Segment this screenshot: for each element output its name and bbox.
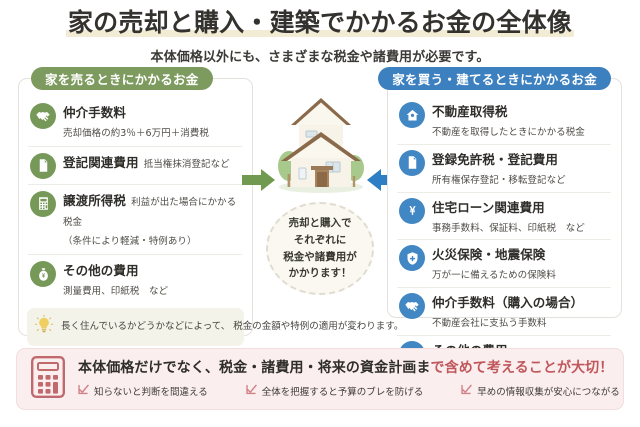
document-icon [399,150,425,176]
house-icon [399,102,425,128]
list-item-text: 火災保険・地震保険 万が一に備えるための保険料 [432,244,609,283]
list-item-desc: 売却価格の約3％＋6万円＋消費税 [63,128,209,139]
summary-banner-title-plain: 本体価格だけでなく、税金・諸費用・将来の資金計画ま [78,360,431,376]
check-item: 知らないと判断を間違える [78,384,208,398]
buy-panel: 家を買う・建てるときにかかるお金 不動産取得税 不動産を取得したときにかかる税金 [387,78,622,318]
lightbulb-icon [33,314,55,340]
list-item: 火災保険・地震保険 万が一に備えるための保険料 [397,239,611,287]
check-icon [246,384,257,398]
calculator-icon [31,356,65,402]
list-item-desc: 測量費用、印紙税 など [63,286,168,297]
list-item-text: 仲介手数料 売却価格の約3％＋6万円＋消費税 [63,102,240,141]
list-item-title: 住宅ローン関連費用 [432,200,545,215]
sell-panel-heading: 家を売るときにかかるお金 [31,67,213,90]
summary-banner-checks: 知らないと判断を間違える 全体を把握すると予算のブレを防げる [78,384,620,398]
check-item: 全体を把握すると予算のブレを防げる [246,384,424,398]
header: 家の売却と購入・建築でかかるお金の全体像 本体価格以外にも、さまざまな税金や諸費… [0,0,640,65]
summary-banner-title-accent: で含めて考えることが大切！ [431,360,614,376]
list-item: 住宅ローン関連費用 事務手数料、保証料、印紙税 など [397,192,611,240]
list-item-text: 登記関連費用 抵当権抹消登記など [63,152,240,172]
list-item-text: 仲介手数料（購入の場合） 不動産会社に支払う手数料 [432,292,609,331]
list-item-desc: 所有権保存登記・移転登記など [432,175,566,186]
list-item-text: 登録免許税・登記費用 所有権保存登記・移転登記など [432,149,609,188]
list-item-text: 譲渡所得税 利益が出た場合にかかる税金 （条件により軽減・特例あり） [63,190,240,249]
list-item-text: 不動産取得税 不動産を取得したときにかかる税金 [432,101,609,140]
list-item-desc: 抵当権抹消登記など [144,159,230,170]
check-item-label: 早めの情報収集が安心につながる [477,384,620,398]
summary-banner-title: 本体価格だけでなく、税金・諸費用・将来の資金計画まで含めて考えることが大切！ [78,360,620,377]
document-icon [30,153,56,179]
summary-banner: 本体価格だけでなく、税金・諸費用・将来の資金計画まで含めて考えることが大切！ 知… [16,348,624,410]
list-item-desc: 不動産を取得したときにかかる税金 [432,127,585,138]
buy-items-list: 不動産取得税 不動産を取得したときにかかる税金 登録免許税・登記費用 所有権保存… [388,79,621,383]
sell-panel-tip: 長く住んでいるかどうかなどによって、 税金の金額や特例の適用が変わります。 [27,308,244,346]
list-item-desc: 不動産会社に支払う手数料 [432,318,547,329]
list-item-title: 登録免許税・登記費用 [432,152,558,167]
list-item-text: 住宅ローン関連費用 事務手数料、保証料、印紙税 など [432,197,609,236]
check-item: 早めの情報収集が安心につながる [461,384,620,398]
buy-panel-heading: 家を買う・建てるときにかかるお金 [378,67,611,90]
list-item-text: その他の費用 測量費用、印紙税 など [63,260,240,299]
page-title-wrap: 家の売却と購入・建築でかかるお金の全体像 [68,9,572,38]
money-bag-icon [30,261,56,287]
list-item-title: 不動産取得税 [432,104,508,119]
sell-panel: 家を売るときにかかるお金 仲介手数料 売却価格の約3％＋6万円＋消費税 [18,78,253,336]
yen-icon [399,198,425,224]
handshake-icon [30,103,56,129]
list-item: その他の費用 測量費用、印紙税 など [28,254,242,304]
center-callout: 売却と購入で それぞれに 税金や諸費用が かかります！ [266,202,374,295]
list-item: 登録免許税・登記費用 所有権保存登記・移転登記など [397,144,611,192]
list-item-title: 仲介手数料 [63,105,126,120]
list-item-desc: 万が一に備えるための保険料 [432,270,556,281]
calculator-icon [30,191,56,217]
summary-banner-body: 本体価格だけでなく、税金・諸費用・将来の資金計画まで含めて考えることが大切！ 知… [78,360,620,399]
page-title: 家の売却と購入・建築でかかるお金の全体像 [68,9,572,38]
list-item-title: 火災保険・地震保険 [432,247,545,262]
comparison-board: 家を売るときにかかるお金 仲介手数料 売却価格の約3％＋6万円＋消費税 [0,66,640,340]
list-item-title: 譲渡所得税 [63,193,126,208]
green-arrow-right [242,168,276,196]
house-row [258,82,382,202]
sell-items-list: 仲介手数料 売却価格の約3％＋6万円＋消費税 登記関連費用 抵当権抹消登記など [19,79,252,304]
infographic-page: 家の売却と購入・建築でかかるお金の全体像 本体価格以外にも、さまざまな税金や諸費… [0,0,640,427]
check-icon [461,384,472,398]
list-item: 譲渡所得税 利益が出た場合にかかる税金 （条件により軽減・特例あり） [28,184,242,254]
list-item-desc: 事務手数料、保証料、印紙税 など [432,223,585,234]
list-item-title: 仲介手数料（購入の場合） [432,295,583,310]
center-callout-text: 売却と購入で それぞれに 税金や諸費用が かかります！ [283,215,357,282]
list-item: 登記関連費用 抵当権抹消登記など [28,146,242,184]
page-subtitle: 本体価格以外にも、さまざまな税金や諸費用が必要です。 [0,46,640,65]
check-item-label: 全体を把握すると予算のブレを防げる [262,384,424,398]
house-illustration [275,88,367,200]
list-item-title: 登記関連費用 [63,155,139,170]
shield-icon [399,245,425,271]
list-item: 仲介手数料 売却価格の約3％＋6万円＋消費税 [28,97,242,146]
center-illustration: 売却と購入で それぞれに 税金や諸費用が かかります！ [258,82,382,332]
check-icon [78,384,89,398]
handshake-icon [399,293,425,319]
list-item: 仲介手数料（購入の場合） 不動産会社に支払う手数料 [397,287,611,335]
list-item: 不動産取得税 不動産を取得したときにかかる税金 [397,97,611,144]
list-item-title: その他の費用 [63,263,139,278]
check-item-label: 知らないと判断を間違える [94,384,208,398]
